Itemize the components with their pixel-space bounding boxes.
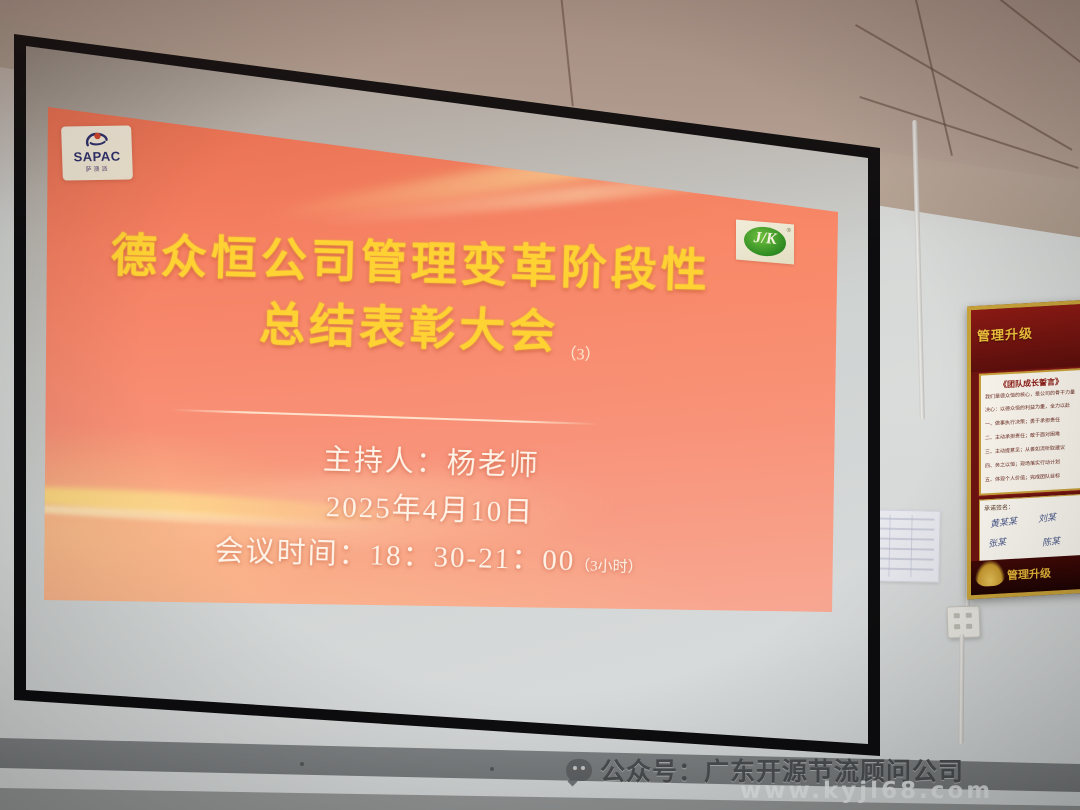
slide-time-line: 会议时间：18：30-21：00: [214, 535, 575, 577]
slide-title-superscript: （3）: [560, 345, 600, 363]
slide-subtitle-block: 主持人：杨老师 2025年4月10日 会议时间：18：30-21：00（3小时）: [148, 432, 712, 588]
slide-title-line-2: 总结表彰大会: [259, 299, 560, 358]
slide-title-divider: [170, 409, 600, 425]
screenshot-root: 管理升级 《团队成长誓言》 我们是德众恒的核心，是公司的骨干力量 决心：以德众恒…: [0, 0, 1080, 810]
slide-title: 德众恒公司管理变革阶段性 总结表彰大会（3）: [108, 223, 791, 372]
wechat-icon: [566, 759, 592, 781]
watermark-url: www.kyjl68.com: [740, 778, 993, 804]
slide-duration-note: （3小时）: [575, 558, 643, 576]
slide-text-layer: 德众恒公司管理变革阶段性 总结表彰大会（3） 主持人：杨老师 2025年4月10…: [0, 0, 1080, 810]
